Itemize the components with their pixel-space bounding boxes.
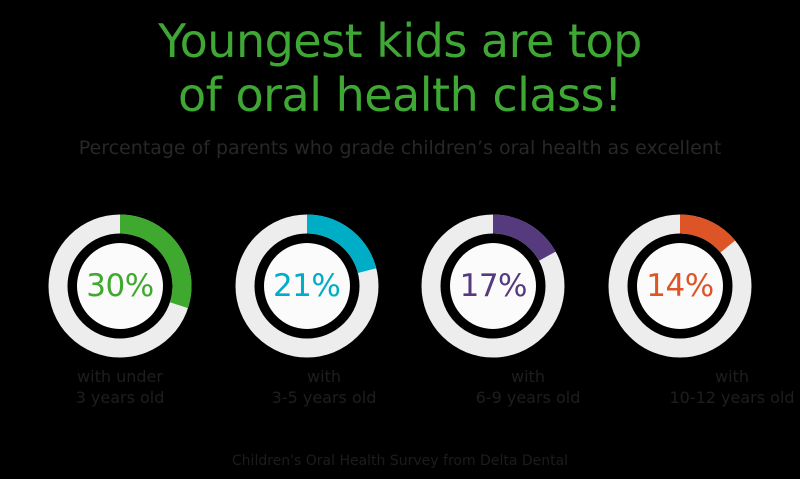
donut-inner-2 bbox=[450, 243, 536, 329]
donut-chart-0: 30% bbox=[46, 212, 194, 360]
title-line-2: of oral health class! bbox=[0, 68, 800, 122]
donut-svg-0 bbox=[46, 212, 194, 360]
donut-caption-1-line-2: 3-5 years old bbox=[222, 387, 426, 408]
donut-chart-3: 14% bbox=[606, 212, 754, 360]
donut-inner-3 bbox=[637, 243, 723, 329]
subtitle: Percentage of parents who grade children… bbox=[0, 136, 800, 160]
donut-caption-1: with 3-5 years old bbox=[222, 366, 426, 408]
donut-caption-3-line-1: with bbox=[630, 366, 800, 387]
donut-caption-0-line-2: 3 years old bbox=[18, 387, 222, 408]
infographic-canvas: Youngest kids are top of oral health cla… bbox=[0, 0, 800, 479]
donut-caption-0: with under 3 years old bbox=[18, 366, 222, 408]
donut-chart-row: 30% 21% 17% 14% bbox=[0, 212, 800, 362]
donut-svg-2 bbox=[419, 212, 567, 360]
donut-caption-3-line-2: 10-12 years old bbox=[630, 387, 800, 408]
donut-caption-2-line-2: 6-9 years old bbox=[426, 387, 630, 408]
page-title: Youngest kids are top of oral health cla… bbox=[0, 0, 800, 122]
donut-svg-3 bbox=[606, 212, 754, 360]
donut-caption-0-line-1: with under bbox=[18, 366, 222, 387]
donut-inner-0 bbox=[77, 243, 163, 329]
donut-caption-row: with under 3 years old with 3-5 years ol… bbox=[0, 366, 800, 408]
donut-chart-2: 17% bbox=[419, 212, 567, 360]
donut-caption-3: with 10-12 years old bbox=[630, 366, 800, 408]
donut-caption-2: with 6-9 years old bbox=[426, 366, 630, 408]
donut-inner-1 bbox=[264, 243, 350, 329]
donut-chart-1: 21% bbox=[233, 212, 381, 360]
donut-caption-1-line-1: with bbox=[222, 366, 426, 387]
donut-svg-1 bbox=[233, 212, 381, 360]
title-line-1: Youngest kids are top bbox=[0, 14, 800, 68]
source-footer: Children's Oral Health Survey from Delta… bbox=[0, 452, 800, 470]
donut-caption-2-line-1: with bbox=[426, 366, 630, 387]
